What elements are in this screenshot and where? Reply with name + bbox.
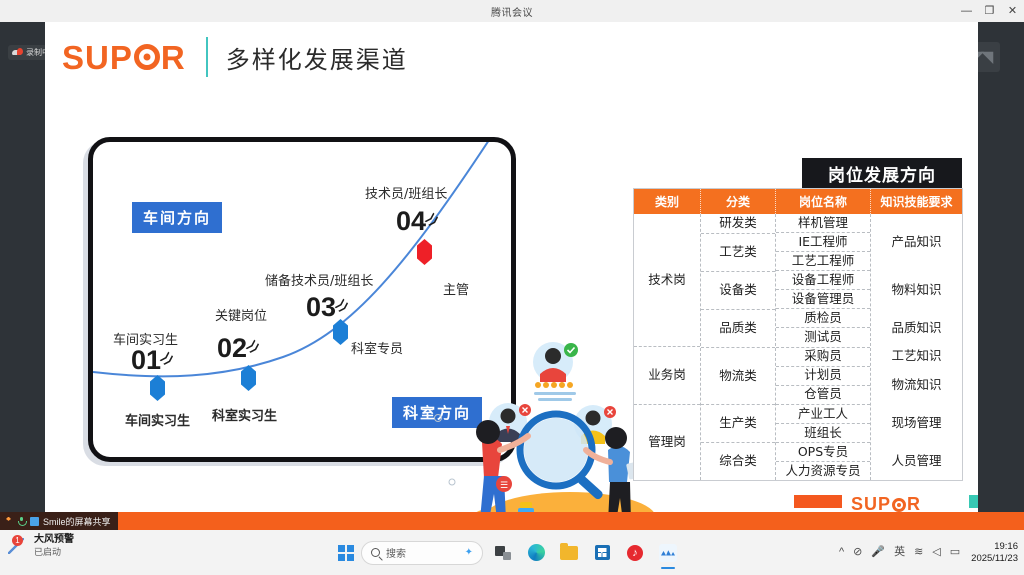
supor-logo: SUPR <box>62 41 186 74</box>
table-cell-category: 业务岗 <box>634 347 700 405</box>
wind-warning-icon: 1 <box>6 535 28 557</box>
table-cell-position: 人力资源专员 <box>776 462 870 480</box>
tray-no-entry-icon[interactable]: ⊘ <box>853 547 862 558</box>
start-button-icon[interactable] <box>338 545 354 561</box>
table-cell-position: 班组长 <box>776 424 870 443</box>
table-column-position: 样机管理 IE工程师 工艺工程师 设备工程师 设备管理员 质检员 测试员 采购员… <box>776 214 871 480</box>
table-header-category: 类别 <box>634 189 701 214</box>
table-cell-position: IE工程师 <box>776 233 870 252</box>
footer-bar-teal <box>969 495 978 508</box>
window-titlebar: 腾讯会议 — ❐ ✕ <box>0 0 1024 22</box>
tray-chevron-up-icon[interactable]: ^ <box>839 547 844 558</box>
supor-o-icon <box>134 44 160 70</box>
page-title: 多样化发展渠道 <box>226 40 408 75</box>
system-tray: ^ ⊘ 🎤 英 ≋ ◁ ▭ 19:16 2025/11/23 <box>839 530 1018 575</box>
direction-chip-workshop: 车间方向 <box>132 202 222 233</box>
svg-text:☰: ☰ <box>500 480 508 490</box>
shared-slide: SUPR 多样化发展渠道 车间方向 科室方向 车间实习生 01⟩⟩ 车间实习生 … <box>45 22 978 530</box>
table-cell-subcategory: 品质类 <box>701 310 775 348</box>
window-controls: — ❐ ✕ <box>955 0 1024 22</box>
table-cell-position: 仓管员 <box>776 386 870 405</box>
table-cell-subcategory: 设备类 <box>701 272 775 310</box>
table-cell-skill: 工艺知识 <box>871 347 962 366</box>
stage-01-number: 01⟩⟩ <box>131 345 172 376</box>
clock-date: 2025/11/23 <box>971 553 1018 565</box>
stage-02-top-label: 关键岗位 <box>215 305 267 324</box>
table-cell-position: 测试员 <box>776 328 870 347</box>
windows-taskbar: 1 大风预警 已启动 搜索 ✦ <box>0 530 1024 575</box>
table-cell-skill: 物料知识 <box>871 271 962 309</box>
table-header-skill: 知识技能要求 <box>871 189 962 214</box>
table-cell-subcategory: 工艺类 <box>701 234 775 272</box>
store-icon <box>595 545 610 560</box>
table-cell-position: 质检员 <box>776 309 870 328</box>
footer-bar-orange <box>794 495 842 508</box>
job-development-table: 类别 分类 岗位名称 知识技能要求 技术岗 业务岗 管理岗 研发类 工艺类 设备… <box>633 188 963 481</box>
table-cell-subcategory: 研发类 <box>701 214 775 234</box>
stage-02-number: 02⟩⟩ <box>217 333 258 364</box>
share-label: Smile的屏幕共享 <box>43 515 111 528</box>
table-cell-position: 产业工人 <box>776 405 870 424</box>
search-input[interactable]: 搜索 ✦ <box>361 541 483 565</box>
folder-icon <box>560 546 578 560</box>
table-cell-skill: 现场管理 <box>871 404 962 442</box>
recording-icon <box>12 48 23 57</box>
table-cell-subcategory: 综合类 <box>701 443 775 480</box>
tray-microphone-icon[interactable]: 🎤 <box>871 547 885 558</box>
table-column-skill: 产品知识 物料知识 品质知识 工艺知识 物流知识 现场管理 人员管理 <box>871 214 962 480</box>
table-cell-position: 工艺工程师 <box>776 252 870 271</box>
tray-wifi-icon[interactable]: ≋ <box>914 547 923 558</box>
toast-title: 大风预警 <box>34 534 74 547</box>
table-cell-category: 管理岗 <box>634 405 700 480</box>
table-body: 技术岗 业务岗 管理岗 研发类 工艺类 设备类 品质类 物流类 生产类 综合类 … <box>634 214 962 480</box>
taskbar-app-task-view[interactable] <box>490 540 516 566</box>
taskbar-app-blue-app[interactable] <box>655 540 681 566</box>
table-cell-position: OPS专员 <box>776 443 870 462</box>
copilot-sparkle-icon[interactable]: ✦ <box>465 547 473 558</box>
table-cell-skill: 产品知识 <box>871 214 962 271</box>
stage-03-bottom-label: 科室专员 <box>351 338 403 357</box>
person-icon <box>4 517 13 526</box>
table-cell-subcategory: 物流类 <box>701 348 775 405</box>
clock[interactable]: 19:16 2025/11/23 <box>971 541 1018 565</box>
table-column-subcategory: 研发类 工艺类 设备类 品质类 物流类 生产类 综合类 <box>701 214 776 480</box>
stage-04-number: 04⟩⟩ <box>396 206 437 237</box>
table-cell-position: 采购员 <box>776 348 870 367</box>
table-cell-position: 设备工程师 <box>776 271 870 290</box>
table-cell-skill: 品质知识 <box>871 309 962 347</box>
clock-time: 19:16 <box>971 541 1018 553</box>
supor-o-icon <box>892 498 906 512</box>
search-icon <box>371 548 380 557</box>
table-cell-skill: 人员管理 <box>871 442 962 480</box>
table-cell-category: 技术岗 <box>634 214 700 347</box>
close-button[interactable]: ✕ <box>1001 0 1024 22</box>
taskbar-app-netease-music[interactable] <box>622 540 648 566</box>
toast-subtitle: 已启动 <box>34 547 74 558</box>
tray-ime-icon[interactable]: 英 <box>894 547 905 558</box>
window-title: 腾讯会议 <box>491 4 533 19</box>
screen-share-strip: Smile的屏幕共享 <box>0 512 1024 530</box>
stage-02-bottom-label: 科室实习生 <box>212 405 277 424</box>
table-header-subcategory: 分类 <box>701 189 776 214</box>
table-cell-position: 设备管理员 <box>776 290 870 309</box>
taskbar-center-group: 搜索 ✦ <box>338 530 681 575</box>
table-cell-subcategory: 生产类 <box>701 405 775 443</box>
tray-battery-icon[interactable]: ▭ <box>950 547 960 558</box>
screen-share-icon[interactable] <box>30 517 39 526</box>
notification-toast[interactable]: 1 大风预警 已启动 <box>6 534 74 558</box>
table-cell-position: 样机管理 <box>776 214 870 233</box>
table-cell-skill: 物流知识 <box>871 366 962 404</box>
stage-04-bottom-label: 主管 <box>443 279 469 298</box>
teamwork-illustration: ☰ <box>430 322 660 530</box>
tray-volume-icon[interactable]: ◁ <box>932 547 940 558</box>
edge-icon <box>528 544 545 561</box>
maximize-button[interactable]: ❐ <box>978 0 1001 22</box>
table-cell-position: 计划员 <box>776 367 870 386</box>
music-icon <box>627 545 643 561</box>
table-header-position: 岗位名称 <box>776 189 871 214</box>
search-placeholder: 搜索 <box>386 545 406 560</box>
stage-01-bottom-label: 车间实习生 <box>125 410 190 429</box>
table-column-category: 技术岗 业务岗 管理岗 <box>634 214 701 480</box>
share-status-chip[interactable]: Smile的屏幕共享 <box>0 512 118 530</box>
header-divider <box>206 37 208 77</box>
task-view-icon <box>495 546 511 560</box>
microphone-icon[interactable] <box>17 517 26 526</box>
blue-app-icon <box>659 544 677 562</box>
table-title: 岗位发展方向 <box>802 158 962 188</box>
taskbar-app-edge[interactable] <box>523 540 549 566</box>
screen-root: 腾讯会议 — ❐ ✕ 录制中 正在讲话: Smile; ◤◥ SUPR 多样化发… <box>0 0 1024 575</box>
stage-04-top-label: 技术员/班组长 <box>365 183 447 202</box>
taskbar-app-microsoft-store[interactable] <box>589 540 615 566</box>
taskbar-app-file-explorer[interactable] <box>556 540 582 566</box>
table-header-row: 类别 分类 岗位名称 知识技能要求 <box>634 189 962 214</box>
slide-header: SUPR 多样化发展渠道 <box>45 22 978 92</box>
notification-badge: 1 <box>12 535 23 546</box>
stage-03-top-label: 储备技术员/班组长 <box>265 270 373 289</box>
minimize-button[interactable]: — <box>955 0 978 22</box>
stage-03-number: 03⟩⟩ <box>306 292 347 323</box>
